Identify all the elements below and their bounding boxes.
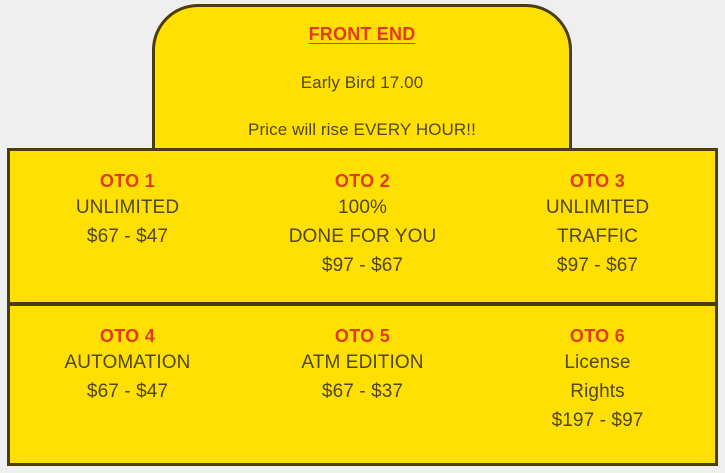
oto-desc-line: TRAFFIC [480, 222, 715, 251]
oto-desc-line: ATM EDITION [245, 348, 480, 377]
front-end-card[interactable]: FRONT END Early Bird 17.00 Price will ri… [152, 4, 572, 152]
oto-label-3: OTO 3 [480, 170, 715, 193]
oto-row-upper: OTO 1 UNLIMITED $67 - $47 OTO 2 100% DON… [7, 148, 718, 304]
oto-desc-4: AUTOMATION [10, 348, 245, 377]
oto-desc-line: DONE FOR YOU [245, 222, 480, 251]
oto-row-lower: OTO 4 AUTOMATION $67 - $47 OTO 5 ATM EDI… [7, 304, 718, 466]
oto-cell-1[interactable]: OTO 1 UNLIMITED $67 - $47 [10, 151, 245, 302]
oto-desc-2: 100% DONE FOR YOU [245, 193, 480, 252]
oto-cell-4[interactable]: OTO 4 AUTOMATION $67 - $47 [10, 306, 245, 463]
oto-price-5: $67 - $37 [245, 377, 480, 406]
oto-label-5: OTO 5 [245, 325, 480, 348]
oto-price-6: $197 - $97 [480, 406, 715, 435]
oto-desc-line: UNLIMITED [480, 193, 715, 222]
oto-price-1: $67 - $47 [10, 222, 245, 251]
funnel-pricing-board: FRONT END Early Bird 17.00 Price will ri… [0, 0, 725, 473]
oto-cell-3[interactable]: OTO 3 UNLIMITED TRAFFIC $97 - $67 [480, 151, 715, 302]
front-end-price-rise-notice: Price will rise EVERY HOUR!! [155, 120, 569, 140]
oto-price-2: $97 - $67 [245, 251, 480, 280]
oto-desc-line: AUTOMATION [10, 348, 245, 377]
oto-desc-1: UNLIMITED [10, 193, 245, 222]
oto-desc-3: UNLIMITED TRAFFIC [480, 193, 715, 252]
oto-label-2: OTO 2 [245, 170, 480, 193]
oto-cell-2[interactable]: OTO 2 100% DONE FOR YOU $97 - $67 [245, 151, 480, 302]
front-end-title: FRONT END [155, 24, 569, 45]
oto-cell-5[interactable]: OTO 5 ATM EDITION $67 - $37 [245, 306, 480, 463]
oto-label-1: OTO 1 [10, 170, 245, 193]
oto-label-4: OTO 4 [10, 325, 245, 348]
oto-price-4: $67 - $47 [10, 377, 245, 406]
oto-label-6: OTO 6 [480, 325, 715, 348]
oto-desc-line: License [480, 348, 715, 377]
oto-cell-6[interactable]: OTO 6 License Rights $197 - $97 [480, 306, 715, 463]
oto-desc-line: UNLIMITED [10, 193, 245, 222]
oto-desc-5: ATM EDITION [245, 348, 480, 377]
oto-price-3: $97 - $67 [480, 251, 715, 280]
oto-desc-6: License Rights [480, 348, 715, 407]
front-end-early-bird-price: Early Bird 17.00 [155, 73, 569, 93]
oto-desc-line: Rights [480, 377, 715, 406]
oto-desc-line: 100% [245, 193, 480, 222]
